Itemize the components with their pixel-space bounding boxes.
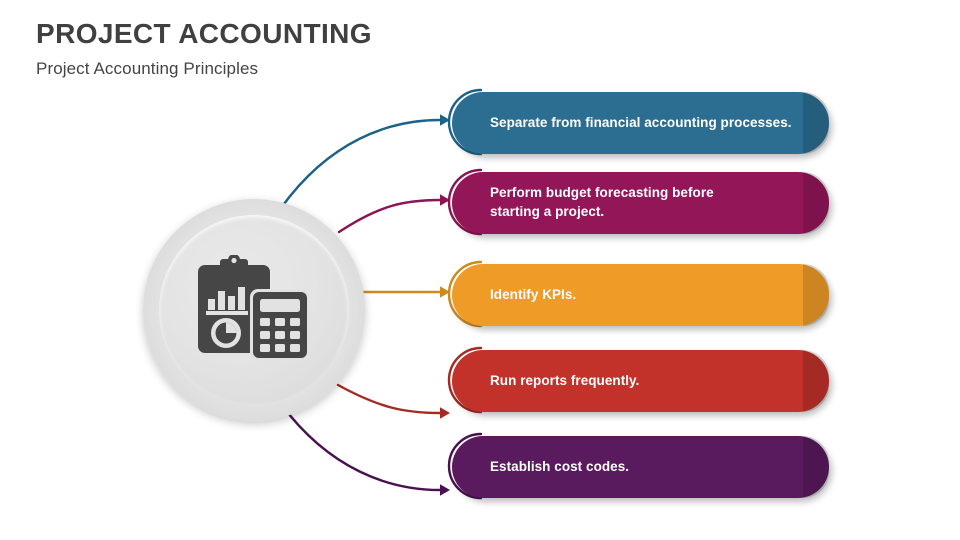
- bar-body-2[interactable]: Perform budget forecasting before starti…: [452, 172, 829, 234]
- list-item[interactable]: Establish cost codes.: [437, 430, 829, 502]
- list-item[interactable]: Identify KPIs.: [437, 258, 829, 330]
- bar-body-3[interactable]: Identify KPIs.: [452, 264, 829, 326]
- list-item[interactable]: Separate from financial accounting proce…: [437, 86, 829, 158]
- page-subtitle: Project Accounting Principles: [36, 59, 372, 79]
- list-item[interactable]: Run reports frequently.: [437, 344, 829, 416]
- bar-body-5[interactable]: Establish cost codes.: [452, 436, 829, 498]
- page-title: PROJECT ACCOUNTING: [36, 18, 372, 50]
- slide-canvas: PROJECT ACCOUNTING Project Accounting Pr…: [0, 0, 960, 540]
- header: PROJECT ACCOUNTING Project Accounting Pr…: [36, 18, 372, 79]
- bar-label: Perform budget forecasting before starti…: [490, 184, 714, 221]
- bar-body-1[interactable]: Separate from financial accounting proce…: [452, 92, 829, 154]
- center-node[interactable]: [143, 199, 365, 421]
- clipboard-chart-calculator-icon: [196, 255, 312, 365]
- bar-label: Establish cost codes.: [490, 458, 629, 477]
- bar-label: Identify KPIs.: [490, 286, 576, 305]
- bar-label: Run reports frequently.: [490, 372, 639, 391]
- list-item[interactable]: Perform budget forecasting before starti…: [437, 166, 829, 238]
- bar-body-4[interactable]: Run reports frequently.: [452, 350, 829, 412]
- connector-line-1: [281, 120, 440, 208]
- bar-label: Separate from financial accounting proce…: [490, 114, 792, 133]
